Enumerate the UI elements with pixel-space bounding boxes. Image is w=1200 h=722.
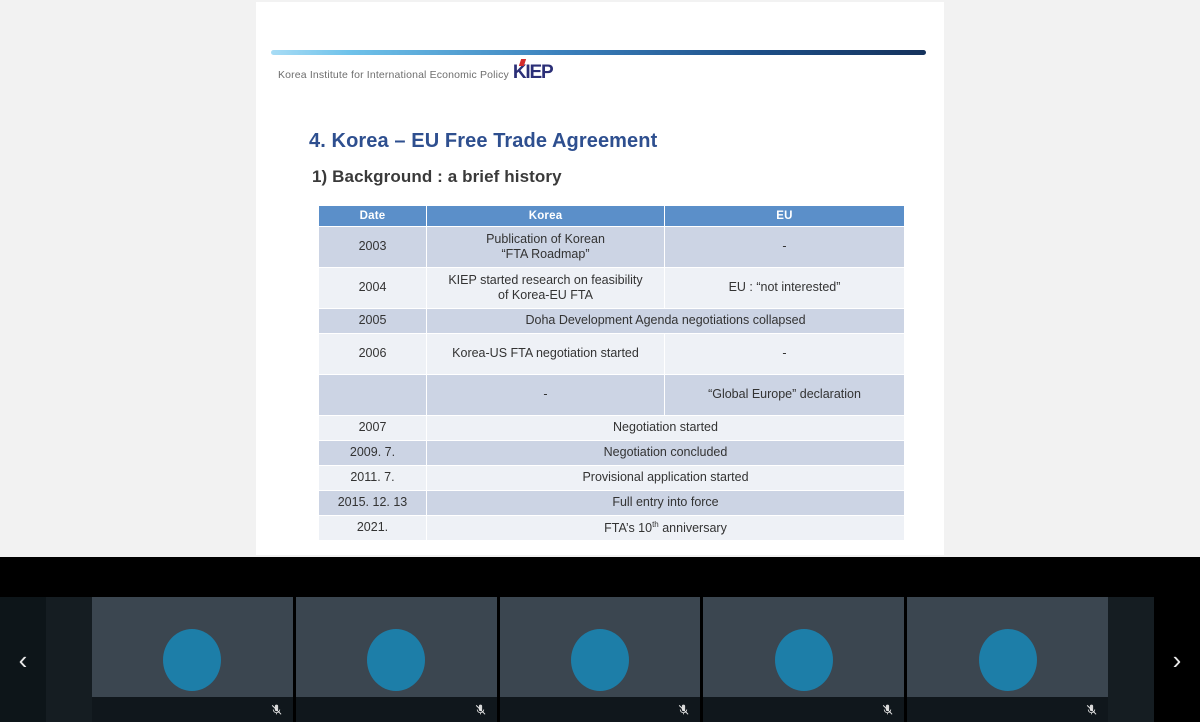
cell-date: 2011. 7. <box>319 466 427 491</box>
presentation-slide[interactable]: Korea Institute for International Econom… <box>256 2 944 555</box>
cell-date: 2004 <box>319 268 427 309</box>
participant-tile[interactable] <box>907 597 1108 722</box>
table-row: 2003Publication of Korean“FTA Roadmap”- <box>319 227 905 268</box>
shared-content-stage: Korea Institute for International Econom… <box>0 0 1200 557</box>
cell-merged: Negotiation concluded <box>427 441 905 466</box>
mic-muted-icon <box>474 702 487 718</box>
cell-eu: - <box>665 334 905 375</box>
cell-eu: EU : “not interested” <box>665 268 905 309</box>
cell-date: 2021. <box>319 516 427 541</box>
cell-date: 2007 <box>319 416 427 441</box>
cell-date: 2015. 12. 13 <box>319 491 427 516</box>
cell-date: 2005 <box>319 309 427 334</box>
participant-avatar <box>775 629 833 691</box>
participant-tile[interactable] <box>296 597 497 722</box>
participant-tile-bar <box>92 697 293 722</box>
participant-tiles <box>92 597 1108 722</box>
slide-accent-bar <box>271 50 926 55</box>
slide-subtitle: 1) Background : a brief history <box>312 167 562 187</box>
cell-date: 2009. 7. <box>319 441 427 466</box>
participant-avatar <box>571 629 629 691</box>
institute-name: Korea Institute for International Econom… <box>278 69 509 81</box>
table-row: 2009. 7.Negotiation concluded <box>319 441 905 466</box>
participant-avatar <box>367 629 425 691</box>
filmstrip-prev-button[interactable]: ‹ <box>0 597 46 722</box>
cell-date: 2003 <box>319 227 427 268</box>
cell-merged: Doha Development Agenda negotiations col… <box>427 309 905 334</box>
table-row: 2021.FTA’s 10th anniversary <box>319 516 905 541</box>
table-row: 2015. 12. 13Full entry into force <box>319 491 905 516</box>
participant-tile-bar <box>500 697 701 722</box>
table-row: 2006Korea-US FTA negotiation started- <box>319 334 905 375</box>
filmstrip-right-gutter <box>1108 597 1154 722</box>
filmstrip-next-button[interactable]: › <box>1154 597 1200 722</box>
table-row: 2011. 7.Provisional application started <box>319 466 905 491</box>
kiep-brand: Korea Institute for International Econom… <box>278 62 552 84</box>
participant-tile-bar <box>907 697 1108 722</box>
cell-merged: FTA’s 10th anniversary <box>427 516 905 541</box>
participant-tile-bar <box>296 697 497 722</box>
mic-muted-icon <box>677 702 690 718</box>
table-row: 2004KIEP started research on feasibility… <box>319 268 905 309</box>
filmstrip-row: ‹ › <box>0 597 1200 722</box>
participant-avatar <box>163 629 221 691</box>
mic-muted-icon <box>270 702 283 718</box>
table-row: -“Global Europe” declaration <box>319 375 905 416</box>
mic-muted-icon <box>1085 702 1098 718</box>
cell-eu: “Global Europe” declaration <box>665 375 905 416</box>
cell-korea: - <box>427 375 665 416</box>
table-body: 2003Publication of Korean“FTA Roadmap”-2… <box>319 227 905 541</box>
cell-merged: Full entry into force <box>427 491 905 516</box>
column-header-date: Date <box>319 206 427 227</box>
table-header-row: Date Korea EU <box>319 206 905 227</box>
participant-avatar <box>979 629 1037 691</box>
chevron-right-icon: › <box>1173 647 1182 673</box>
cell-korea: Korea-US FTA negotiation started <box>427 334 665 375</box>
column-header-eu: EU <box>665 206 905 227</box>
participant-tile[interactable] <box>92 597 293 722</box>
slide-title: 4. Korea – EU Free Trade Agreement <box>309 130 657 153</box>
cell-merged: Negotiation started <box>427 416 905 441</box>
mic-muted-icon <box>881 702 894 718</box>
table-row: 2007Negotiation started <box>319 416 905 441</box>
cell-date: 2006 <box>319 334 427 375</box>
participant-tile-bar <box>703 697 904 722</box>
app-root: Korea Institute for International Econom… <box>0 0 1200 722</box>
cell-date <box>319 375 427 416</box>
participant-tile[interactable] <box>703 597 904 722</box>
table-row: 2005Doha Development Agenda negotiations… <box>319 309 905 334</box>
chevron-left-icon: ‹ <box>19 647 28 673</box>
column-header-korea: Korea <box>427 206 665 227</box>
history-table: Date Korea EU 2003Publication of Korean“… <box>318 205 905 541</box>
filmstrip-left-gutter <box>46 597 92 722</box>
participant-filmstrip: ‹ › <box>0 557 1200 722</box>
cell-eu: - <box>665 227 905 268</box>
cell-korea: Publication of Korean“FTA Roadmap” <box>427 227 665 268</box>
cell-korea: KIEP started research on feasibilityof K… <box>427 268 665 309</box>
cell-merged: Provisional application started <box>427 466 905 491</box>
kiep-logo: KIEP <box>513 62 553 84</box>
participant-tile[interactable] <box>500 597 701 722</box>
